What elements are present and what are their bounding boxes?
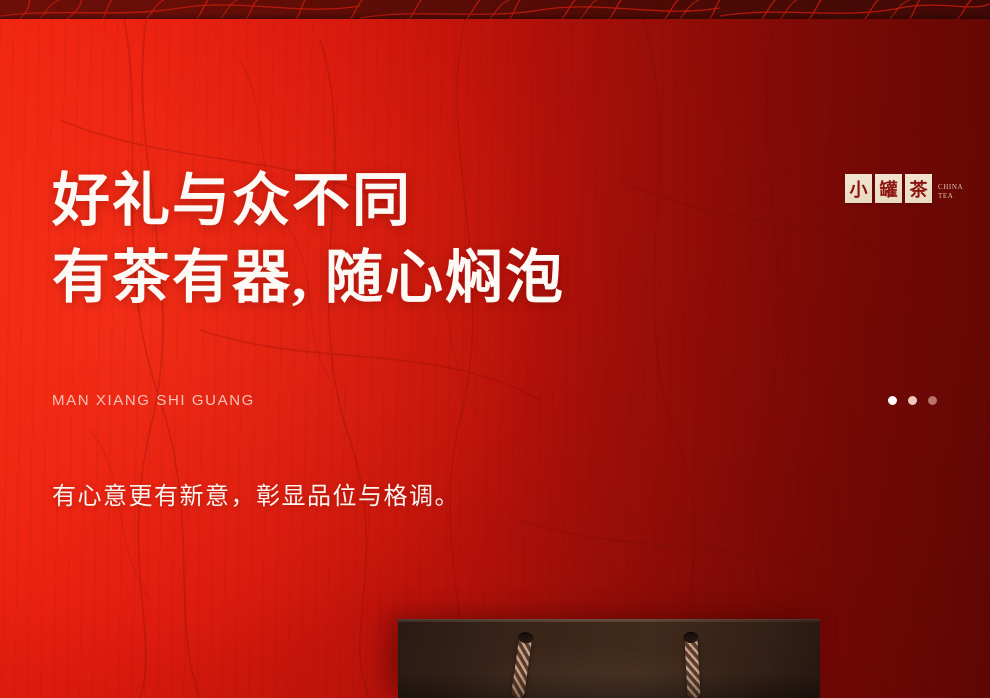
product-gift-bag[interactable] bbox=[398, 619, 820, 698]
logo-english-line-2: TEA bbox=[938, 192, 963, 201]
logo-tile-group: 小 罐 茶 bbox=[845, 174, 932, 203]
headline-line-1: 好礼与众不同 bbox=[52, 168, 412, 233]
background-vignette bbox=[0, 0, 990, 698]
background-cloth-texture bbox=[0, 0, 990, 698]
carousel-pagination[interactable] bbox=[888, 396, 937, 405]
logo-tile-xiao: 小 bbox=[845, 174, 872, 203]
logo-tile-cha: 茶 bbox=[905, 174, 932, 203]
hero-banner-slide: 好礼与众不同 有茶有器, 随心焖泡 MAN XIANG SHI GUANG 有心… bbox=[0, 0, 990, 698]
top-ornamental-band bbox=[0, 0, 990, 19]
pinyin-subtitle: MAN XIANG SHI GUANG bbox=[52, 392, 255, 409]
hero-headline: 好礼与众不同 有茶有器, 随心焖泡 bbox=[52, 162, 565, 316]
carousel-dot-1[interactable] bbox=[888, 396, 897, 405]
brand-logo[interactable]: 小 罐 茶 CHINA TEA bbox=[845, 174, 963, 203]
carousel-dot-2[interactable] bbox=[908, 396, 917, 405]
carousel-dot-3[interactable] bbox=[928, 396, 937, 405]
headline-line-2: 有茶有器, 随心焖泡 bbox=[52, 239, 565, 316]
hero-description: 有心意更有新意，彰显品位与格调。 bbox=[52, 476, 460, 511]
logo-tile-guan: 罐 bbox=[875, 174, 902, 203]
logo-english-text: CHINA TEA bbox=[938, 183, 963, 203]
background-branch-watermark bbox=[0, 0, 990, 698]
bag-bottom-shadow bbox=[398, 672, 820, 698]
logo-english-line-1: CHINA bbox=[938, 183, 963, 192]
